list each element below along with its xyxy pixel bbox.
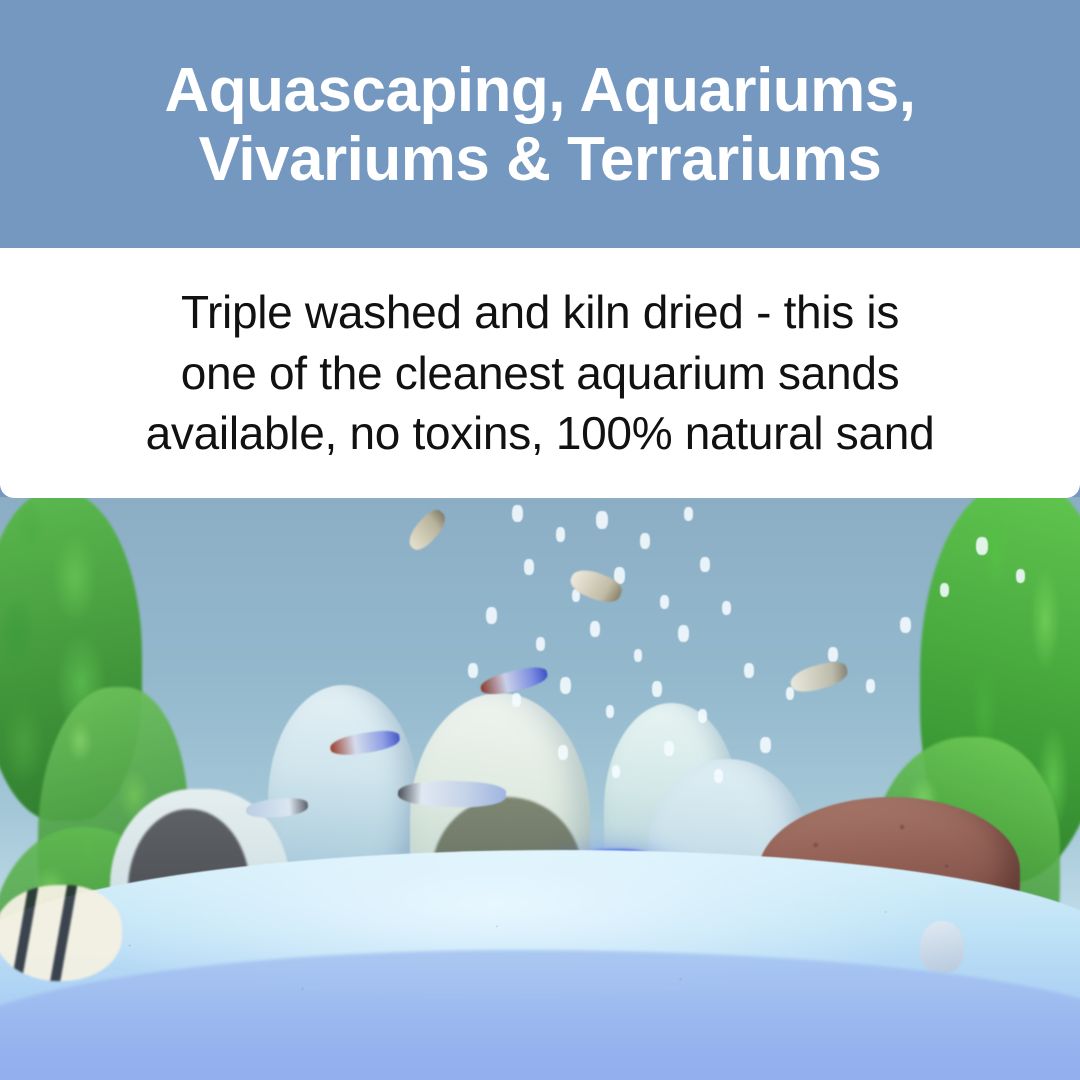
bubble (700, 557, 710, 572)
bubble (684, 507, 693, 521)
header-band: Aquascaping, Aquariums, Vivariums & Terr… (0, 0, 1080, 250)
subtitle-text: Triple washed and kiln dried - this is o… (112, 282, 969, 464)
sand-grain-texture (0, 840, 1080, 1080)
bubble (524, 559, 534, 575)
bubble (468, 663, 478, 678)
bubble (760, 737, 771, 753)
page-title: Aquascaping, Aquariums, Vivariums & Terr… (135, 56, 946, 195)
bubble (652, 681, 662, 697)
bubble (744, 663, 754, 678)
bubble (612, 765, 620, 778)
bubble (714, 769, 723, 783)
bubble (940, 583, 949, 597)
bubble (640, 533, 650, 549)
bubble (606, 705, 614, 718)
bubble (560, 677, 571, 694)
subtitle-card: Triple washed and kiln dried - this is o… (0, 248, 1080, 498)
bubble (590, 621, 600, 637)
bubble (556, 527, 565, 542)
bubble (536, 637, 545, 651)
bubble (900, 617, 911, 633)
bubble (664, 741, 674, 756)
bubble (634, 649, 642, 662)
bubble (976, 537, 988, 555)
bubble (678, 625, 689, 642)
bubble (698, 709, 707, 723)
bubble (722, 601, 731, 615)
bubble (558, 745, 568, 760)
bubble (486, 607, 497, 624)
bubble (512, 693, 521, 707)
poster-container: Aquascaping, Aquariums, Vivariums & Terr… (0, 0, 1080, 1080)
aquarium-photo (0, 497, 1080, 1080)
bubble (512, 505, 523, 522)
bubble (828, 647, 838, 662)
bubble (1016, 569, 1025, 583)
bubble (596, 511, 608, 529)
bubble (866, 679, 875, 693)
bubble (660, 595, 669, 609)
